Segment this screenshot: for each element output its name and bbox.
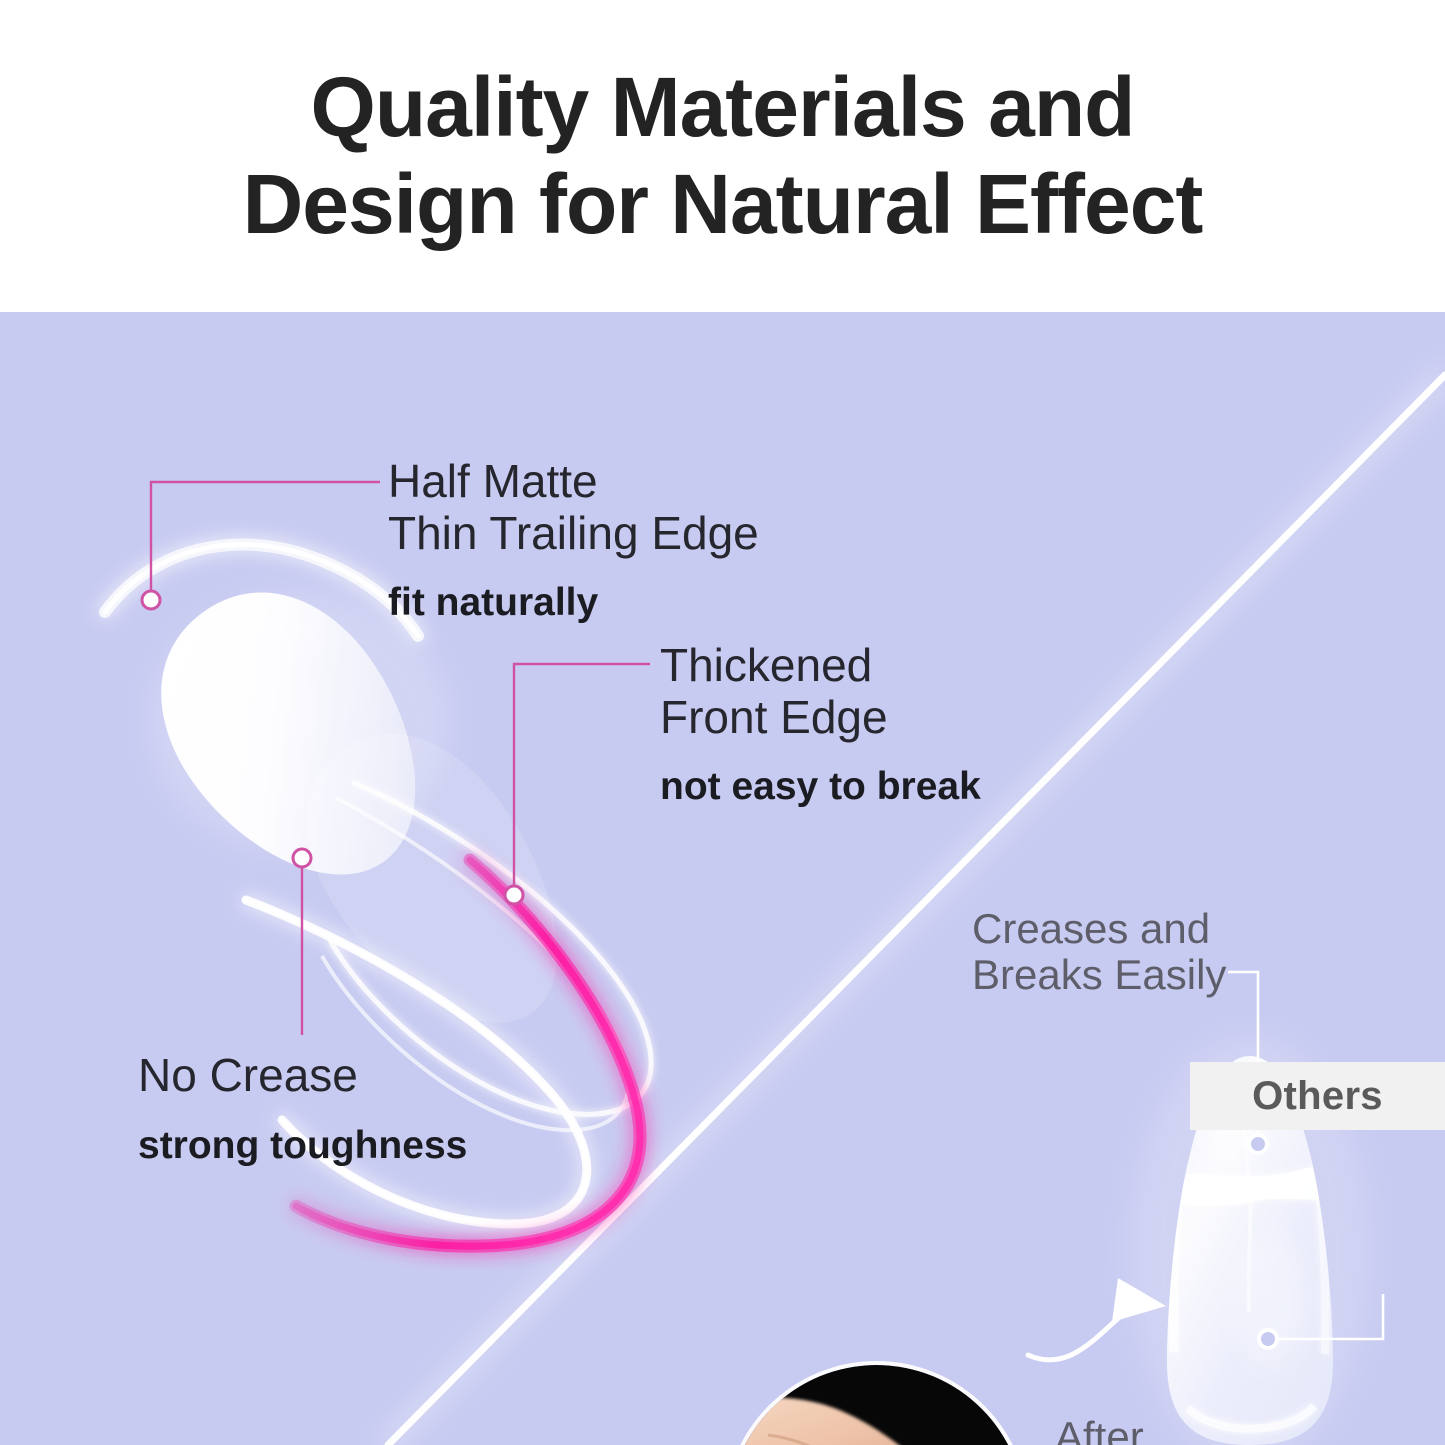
callout-creases-title: Creases and Breaks Easily [972,906,1226,998]
page-title-line-2: Design for Natural Effect [243,156,1203,253]
leader-dot-trailing-edge [142,591,160,609]
header-band: Quality Materials and Design for Natural… [0,0,1445,312]
page-title-line-1: Quality Materials and [311,59,1135,156]
callout-trailing-edge-subtitle: fit naturally [388,581,759,625]
callout-after-bend: After Bend [1055,1414,1153,1445]
callout-front-edge-title: Thickened Front Edge [660,640,981,743]
callout-no-crease-title: No Crease [138,1050,467,1102]
callout-no-crease-subtitle: strong toughness [138,1124,467,1168]
callout-front-edge: Thickened Front Edge not easy to break [660,640,981,809]
badge-others: Others [1190,1062,1445,1130]
leader-dot-abs [1259,1330,1277,1348]
leader-dot-creases [1249,1135,1267,1153]
leader-dot-front-edge [505,886,523,904]
comparison-panel: Half Matte Thin Trailing Edge fit natura… [0,312,1445,1445]
badge-others-label: Others [1252,1074,1383,1119]
infographic-page: Quality Materials and Design for Natural… [0,0,1445,1445]
callout-after-bend-title: After Bend [1055,1414,1153,1445]
callout-trailing-edge: Half Matte Thin Trailing Edge fit natura… [388,456,759,625]
leader-dot-no-crease [293,849,311,867]
callout-no-crease: No Crease strong toughness [138,1050,467,1168]
callout-creases: Creases and Breaks Easily [972,906,1226,998]
callout-front-edge-subtitle: not easy to break [660,765,981,809]
callout-trailing-edge-title: Half Matte Thin Trailing Edge [388,456,759,559]
